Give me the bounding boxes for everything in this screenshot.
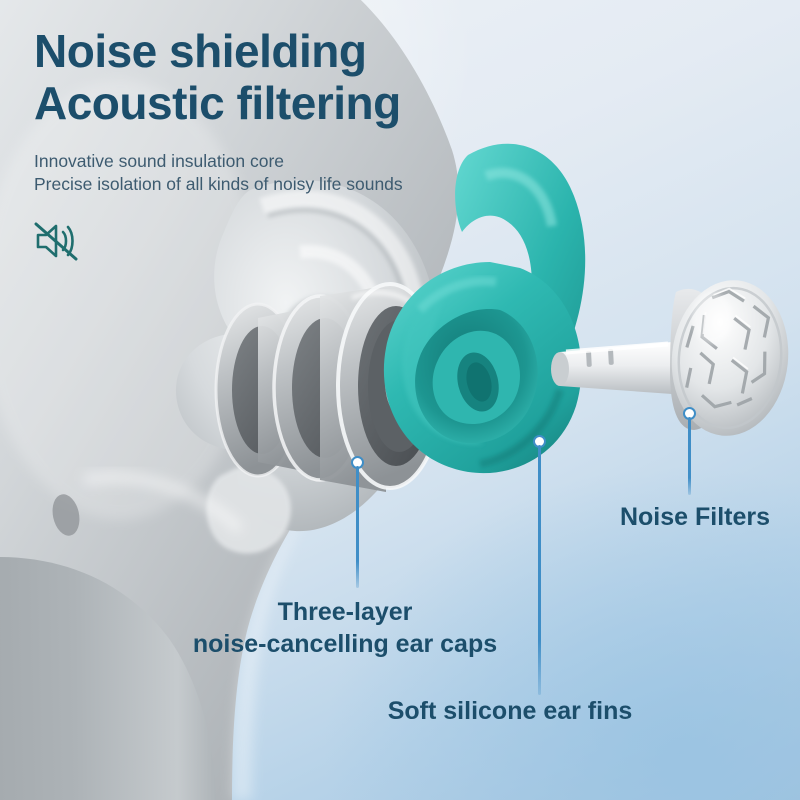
headline-line-1: Noise shielding [34,25,366,77]
callout-line-noise-filters [688,417,691,495]
filter-stem [551,342,672,394]
muted-speaker-icon [32,218,80,264]
headline-line-2: Acoustic filtering [34,78,401,130]
subtitle-line-2: Precise isolation of all kinds of noisy … [34,173,403,196]
callout-label-ear-caps-line-2: noise-cancelling ear caps [150,628,540,660]
callout-label-noise-filters: Noise Filters [600,503,790,532]
product-poster: Noise shielding Acoustic filtering Innov… [0,0,800,800]
callout-label-ear-caps-line-1: Three-layer [150,596,540,628]
callout-label-ear-caps: Three-layer noise-cancelling ear caps [150,596,540,660]
callout-label-ear-fins-line-1: Soft silicone ear fins [330,697,690,726]
callout-label-ear-fins: Soft silicone ear fins [330,697,690,726]
callout-label-noise-filters-line-1: Noise Filters [600,503,790,532]
page-subtitle: Innovative sound insulation core Precise… [34,150,403,197]
callout-line-ear-fins [538,445,541,695]
page-title: Noise shielding Acoustic filtering [34,26,401,129]
subtitle-line-1: Innovative sound insulation core [34,150,403,173]
callout-line-ear-caps [356,466,359,588]
